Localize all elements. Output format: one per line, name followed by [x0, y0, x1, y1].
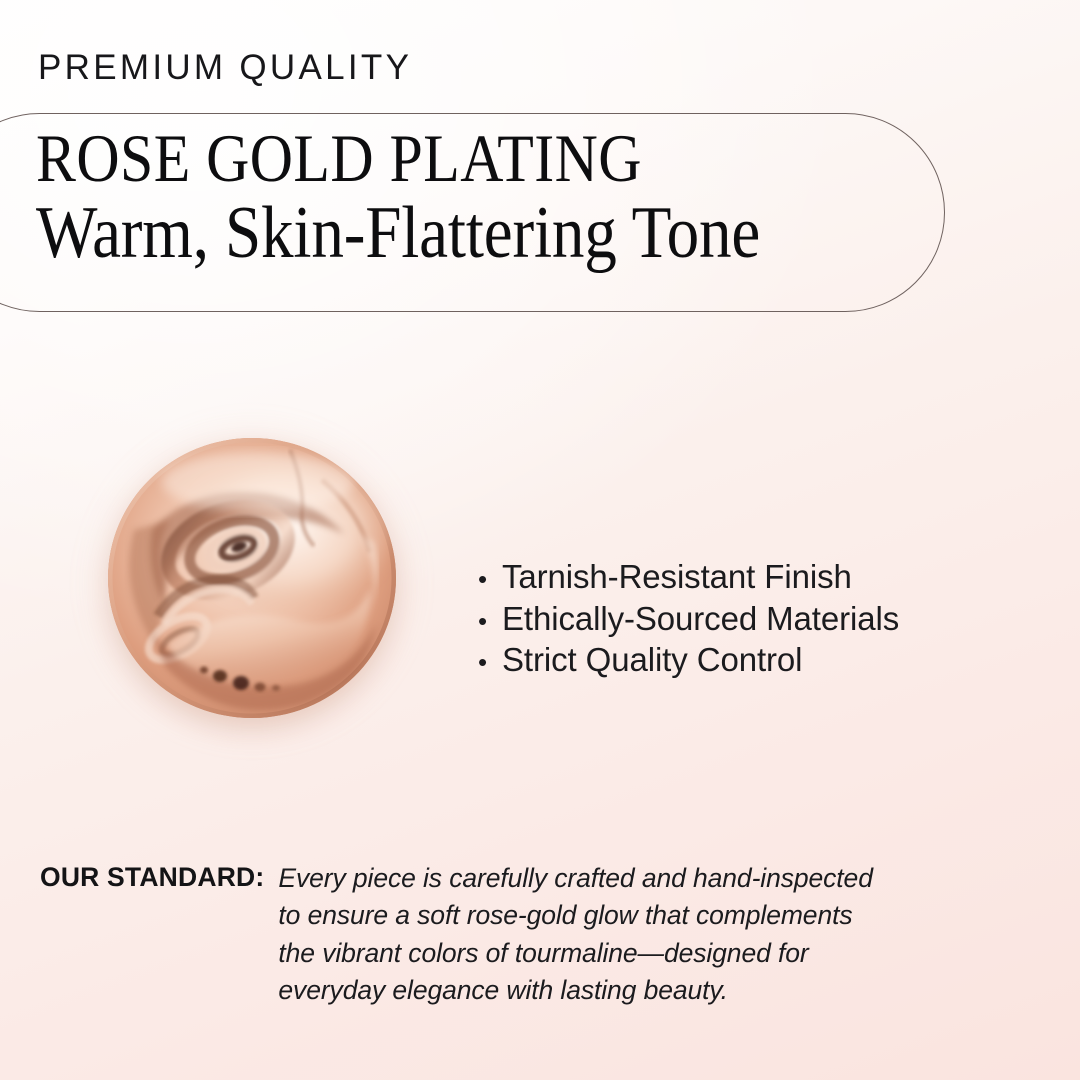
list-item: • Ethically-Sourced Materials	[478, 598, 998, 640]
list-item: • Tarnish-Resistant Finish	[478, 556, 998, 598]
standard-line: everyday elegance with lasting beauty.	[278, 972, 872, 1009]
product-image	[104, 432, 400, 722]
standard-label: OUR STANDARD:	[40, 860, 264, 893]
rose-gold-sphere-icon	[108, 438, 396, 718]
standard-line: to ensure a soft rose-gold glow that com…	[278, 897, 872, 934]
feature-label: Tarnish-Resistant Finish	[502, 556, 852, 598]
standard-section: OUR STANDARD: Every piece is carefully c…	[40, 860, 1000, 1009]
eyebrow-label: PREMIUM QUALITY	[38, 48, 412, 88]
bullet-icon: •	[478, 566, 502, 592]
bullet-icon: •	[478, 608, 502, 634]
page-title: ROSE GOLD PLATING Warm, Skin-Flattering …	[36, 126, 936, 270]
standard-line: Every piece is carefully crafted and han…	[278, 860, 872, 897]
list-item: • Strict Quality Control	[478, 639, 998, 681]
feature-list: • Tarnish-Resistant Finish • Ethically-S…	[478, 556, 998, 681]
standard-line: the vibrant colors of tourmaline—designe…	[278, 935, 872, 972]
promo-card: PREMIUM QUALITY ROSE GOLD PLATING Warm, …	[0, 0, 1080, 1080]
feature-label: Ethically-Sourced Materials	[502, 598, 899, 640]
standard-body: Every piece is carefully crafted and han…	[278, 860, 872, 1009]
title-line-secondary: Warm, Skin-Flattering Tone	[36, 198, 828, 270]
bullet-icon: •	[478, 649, 502, 675]
feature-label: Strict Quality Control	[502, 639, 802, 681]
title-line-primary: ROSE GOLD PLATING	[36, 126, 828, 192]
